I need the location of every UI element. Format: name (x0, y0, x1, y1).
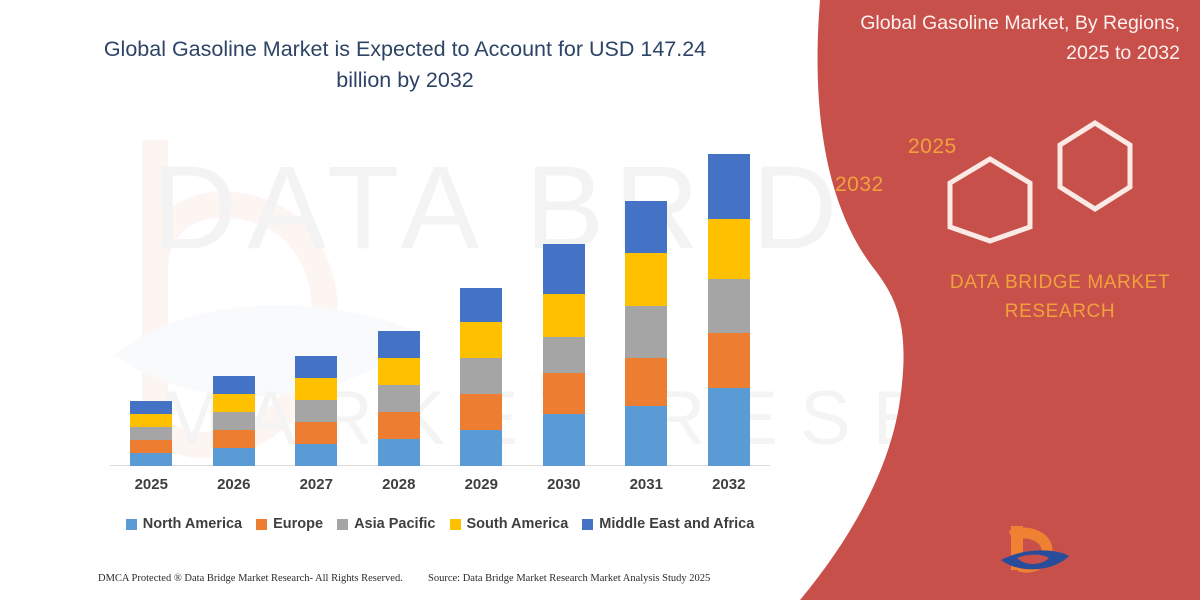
x-axis-label-2032: 2032 (708, 476, 750, 493)
bar-segment-europe (708, 333, 750, 388)
bar-segment-middle-east-and-africa (213, 376, 255, 394)
bar-segment-europe (625, 358, 667, 406)
x-axis-labels: 20252026202720282029203020312032 (110, 470, 770, 498)
bar-segment-asia-pacific (708, 279, 750, 333)
bar-segment-asia-pacific (460, 358, 502, 394)
chart-legend: North AmericaEuropeAsia PacificSouth Ame… (110, 512, 770, 536)
legend-label: North America (143, 516, 242, 532)
bar-segment-north-america (295, 444, 337, 466)
bar-2031 (625, 201, 667, 466)
legend-swatch-icon (582, 519, 593, 530)
bar-segment-north-america (460, 430, 502, 466)
bar-segment-middle-east-and-africa (130, 401, 172, 414)
footer: DMCA Protected ® Data Bridge Market Rese… (0, 566, 800, 590)
x-axis-label-2026: 2026 (213, 476, 255, 493)
bar-segment-north-america (378, 439, 420, 466)
bar-2025 (130, 401, 172, 466)
legend-item-europe[interactable]: Europe (256, 516, 323, 532)
bar-segment-europe (460, 394, 502, 430)
bar-segment-asia-pacific (625, 306, 667, 358)
bar-segment-asia-pacific (213, 412, 255, 430)
bar-2032 (708, 154, 750, 466)
hexagon-2025-shape (1060, 123, 1130, 209)
x-axis-label-2025: 2025 (130, 476, 172, 493)
legend-swatch-icon (450, 519, 461, 530)
chart-pane: Global Gasoline Market is Expected to Ac… (0, 0, 820, 600)
x-axis-label-2030: 2030 (543, 476, 585, 493)
legend-item-asia-pacific[interactable]: Asia Pacific (337, 516, 435, 532)
bar-segment-europe (378, 412, 420, 439)
bar-segment-middle-east-and-africa (295, 356, 337, 378)
bar-segment-middle-east-and-africa (543, 244, 585, 294)
legend-item-middle-east-and-africa[interactable]: Middle East and Africa (582, 516, 754, 532)
bar-segment-south-america (708, 219, 750, 279)
bar-segment-south-america (130, 414, 172, 427)
bar-segment-middle-east-and-africa (708, 154, 750, 219)
bar-segment-south-america (213, 394, 255, 412)
right-panel-brand-line2: RESEARCH (1005, 301, 1115, 322)
x-axis-label-2029: 2029 (460, 476, 502, 493)
legend-label: Middle East and Africa (599, 516, 754, 532)
bar-2027 (295, 356, 337, 466)
legend-item-south-america[interactable]: South America (450, 516, 569, 532)
right-panel: Global Gasoline Market, By Regions, 2025… (780, 0, 1200, 600)
legend-label: Asia Pacific (354, 516, 435, 532)
bar-segment-europe (213, 430, 255, 448)
bar-2030 (543, 244, 585, 466)
bar-2026 (213, 376, 255, 466)
bar-segment-north-america (543, 414, 585, 466)
bar-segment-europe (543, 373, 585, 414)
bar-segment-south-america (295, 378, 337, 400)
footer-dmca-text: DMCA Protected ® Data Bridge Market Rese… (98, 573, 403, 584)
hexagon-2025-label: 2025 (908, 135, 957, 159)
legend-swatch-icon (126, 519, 137, 530)
bar-2029 (460, 288, 502, 466)
bar-segment-north-america (708, 388, 750, 466)
bar-segment-europe (130, 440, 172, 453)
right-panel-title: Global Gasoline Market, By Regions, 2025… (830, 8, 1180, 68)
bar-segment-north-america (130, 453, 172, 466)
x-axis-label-2027: 2027 (295, 476, 337, 493)
right-panel-brand: DATA BRIDGE MARKET RESEARCH (940, 268, 1180, 326)
bar-segment-asia-pacific (130, 427, 172, 440)
bar-2028 (378, 331, 420, 466)
bar-segment-middle-east-and-africa (378, 331, 420, 358)
bar-segment-middle-east-and-africa (460, 288, 502, 322)
legend-label: Europe (273, 516, 323, 532)
data-bridge-logo-icon (995, 520, 1190, 582)
bar-segment-north-america (625, 406, 667, 466)
legend-label: South America (467, 516, 569, 532)
right-panel-brand-line1: DATA BRIDGE MARKET (950, 272, 1170, 293)
bar-segment-europe (295, 422, 337, 444)
x-axis-label-2031: 2031 (625, 476, 667, 493)
bar-segment-north-america (213, 448, 255, 466)
bar-segment-south-america (625, 253, 667, 306)
infographic-canvas: DATA BRIDGE MARKET RESEARCH Global Gasol… (0, 0, 1200, 600)
footer-source-text: Source: Data Bridge Market Research Mark… (428, 573, 710, 584)
bar-segment-south-america (378, 358, 420, 385)
bar-segment-south-america (543, 294, 585, 337)
right-panel-content: Global Gasoline Market, By Regions, 2025… (780, 0, 1200, 600)
bar-segment-middle-east-and-africa (625, 201, 667, 253)
legend-swatch-icon (337, 519, 348, 530)
legend-swatch-icon (256, 519, 267, 530)
bar-segment-asia-pacific (378, 385, 420, 412)
stacked-bar-group (110, 140, 770, 466)
hexagon-2032-shape (950, 159, 1030, 241)
bar-segment-south-america (460, 322, 502, 358)
legend-item-north-america[interactable]: North America (126, 516, 242, 532)
bar-segment-asia-pacific (295, 400, 337, 422)
hexagon-2032-label: 2032 (835, 173, 884, 197)
x-axis-label-2028: 2028 (378, 476, 420, 493)
bar-segment-asia-pacific (543, 337, 585, 373)
chart-title: Global Gasoline Market is Expected to Ac… (80, 34, 730, 96)
